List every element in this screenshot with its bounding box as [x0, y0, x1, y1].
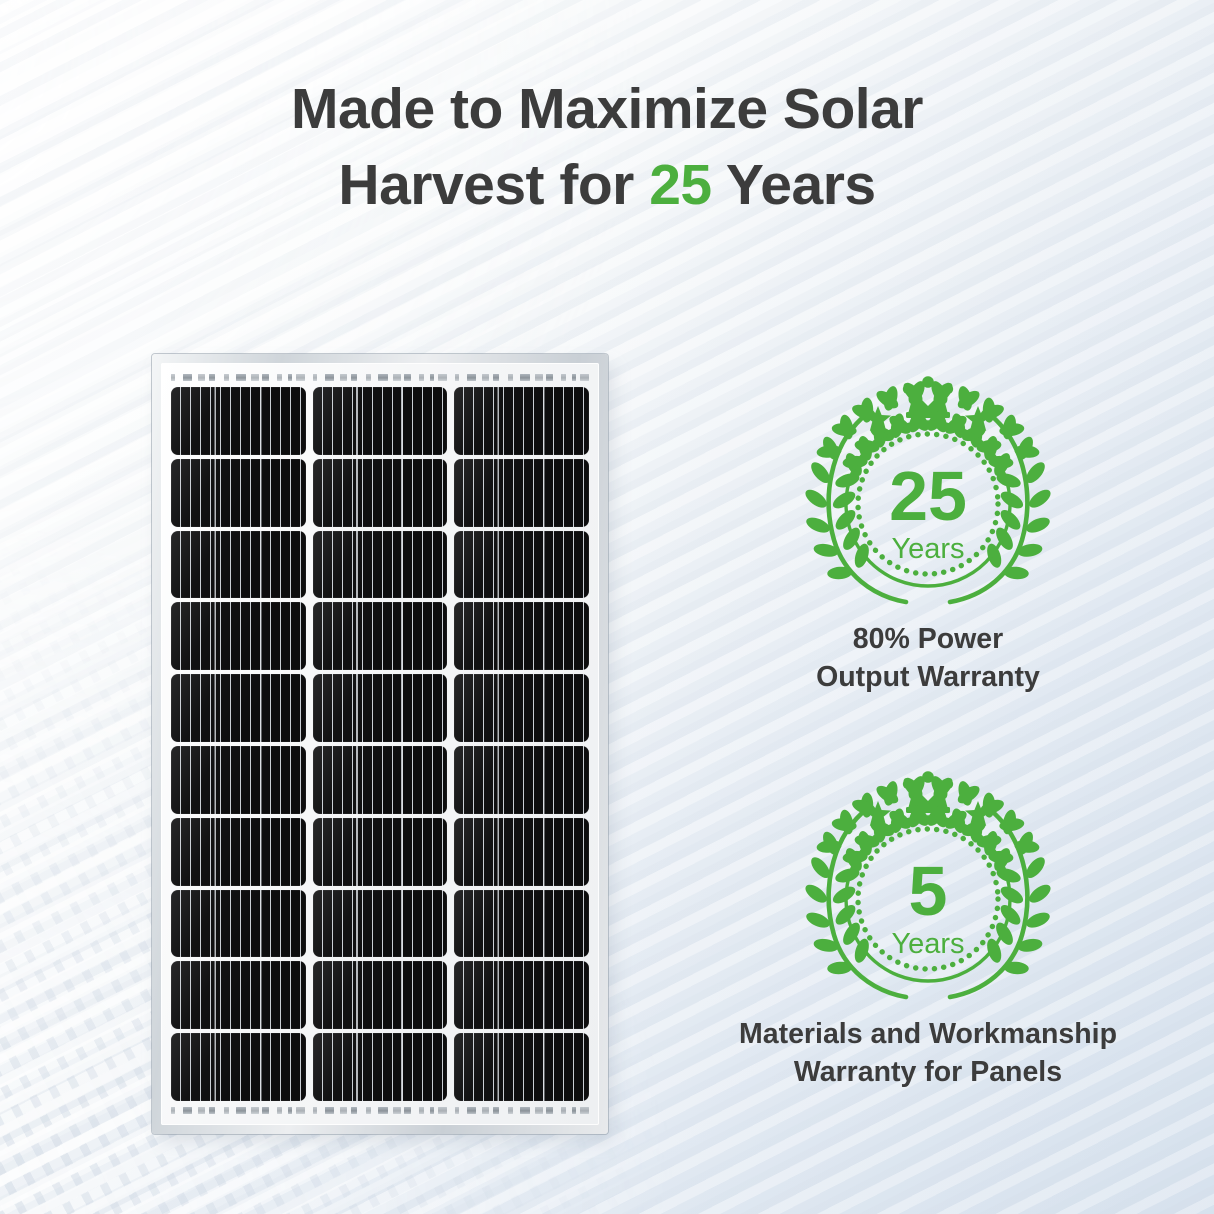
laurel-leaf [852, 542, 872, 570]
badge-unit: Years [891, 928, 964, 960]
laurel-leaf [802, 486, 829, 511]
solar-cell [313, 961, 448, 1029]
panel-backsheet [161, 363, 599, 1125]
solar-cell [454, 602, 589, 670]
laurel-leaf [984, 542, 1004, 570]
headline-line-2-prefix: Harvest for [338, 153, 649, 217]
badge-number: 5 [909, 852, 948, 930]
solar-cell [454, 531, 589, 599]
laurel-leaf [998, 883, 1026, 907]
solar-cell [313, 746, 448, 814]
solar-cell [171, 1033, 306, 1101]
solar-cell [313, 1033, 448, 1101]
panel-bottom-busbar-ribbons [171, 1104, 589, 1117]
laurel-leaf [852, 937, 872, 965]
solar-cell [171, 890, 306, 958]
solar-cell [313, 674, 448, 742]
busbar-ribbon-segment [171, 1104, 305, 1117]
laurel-leaf [984, 937, 1004, 965]
badge-caption-line-2: Warranty for Panels [728, 1053, 1128, 1091]
solar-cell [171, 818, 306, 886]
laurel-wreath-crown-seal-icon: 25 Years [802, 370, 1054, 606]
page-title: Made to Maximize Solar Harvest for 25 Ye… [0, 72, 1214, 224]
laurel-leaf [830, 488, 858, 512]
busbar-ribbon-segment [455, 1104, 589, 1117]
solar-cell [171, 602, 306, 670]
headline-accent-number: 25 [649, 153, 711, 217]
solar-cell [454, 387, 589, 455]
busbar-ribbon-segment [455, 371, 589, 384]
solar-cell [313, 531, 448, 599]
warranty-badge-25-year: 25 Years 80% Power Output Warranty [728, 370, 1128, 697]
solar-cell [171, 387, 306, 455]
solar-cell [454, 459, 589, 527]
laurel-leaf [802, 881, 829, 906]
solar-cell [313, 459, 448, 527]
headline-line-2-suffix: Years [712, 153, 876, 217]
solar-cell [171, 674, 306, 742]
solar-cell [454, 674, 589, 742]
badge-caption-line-2: Output Warranty [728, 658, 1128, 696]
badge-caption: 80% Power Output Warranty [728, 620, 1128, 697]
solar-cell [313, 387, 448, 455]
busbar-ribbon-segment [171, 371, 305, 384]
badge-number: 25 [889, 457, 967, 535]
solar-cell [454, 890, 589, 958]
headline-line-1: Made to Maximize Solar [0, 72, 1214, 148]
busbar-ribbon-segment [313, 371, 447, 384]
panel-top-busbar-ribbons [171, 371, 589, 384]
solar-cell [454, 746, 589, 814]
laurel-leaf [1026, 881, 1053, 906]
badge-unit: Years [891, 533, 964, 565]
badge-caption-line-1: Materials and Workmanship [728, 1015, 1128, 1053]
busbar-ribbon-segment [313, 1104, 447, 1117]
panel-cell-grid [171, 387, 589, 1101]
solar-cell [171, 746, 306, 814]
solar-cell [313, 818, 448, 886]
laurel-leaf [830, 883, 858, 907]
solar-cell [313, 602, 448, 670]
solar-cell [171, 961, 306, 1029]
panel-aluminum-frame [152, 354, 608, 1134]
warranty-badge-5-year: 5 Years Materials and Workmanship Warran… [728, 765, 1128, 1092]
badge-caption-line-1: 80% Power [728, 620, 1128, 658]
solar-cell [313, 890, 448, 958]
solar-cell [454, 961, 589, 1029]
laurel-leaf [998, 488, 1026, 512]
promo-banner: Made to Maximize Solar Harvest for 25 Ye… [0, 0, 1214, 1214]
solar-cell [171, 531, 306, 599]
solar-panel-image [152, 354, 608, 1134]
solar-cell [454, 1033, 589, 1101]
badge-caption: Materials and Workmanship Warranty for P… [728, 1015, 1128, 1092]
solar-cell [454, 818, 589, 886]
laurel-leaf [1026, 486, 1053, 511]
headline-line-2: Harvest for 25 Years [0, 148, 1214, 224]
solar-cell [171, 459, 306, 527]
laurel-wreath-crown-seal-icon: 5 Years [802, 765, 1054, 1001]
